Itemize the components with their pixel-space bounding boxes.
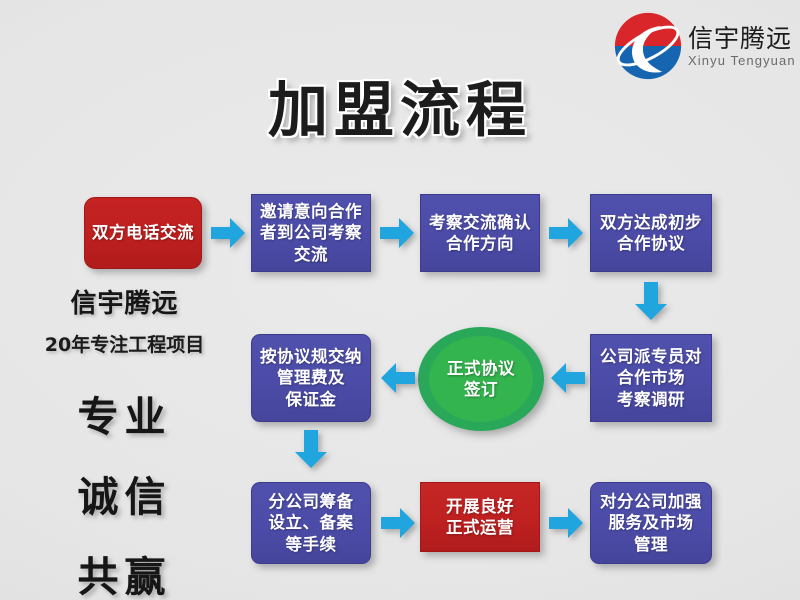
arrow-8-9-icon	[547, 506, 585, 540]
slogan-brand: 信宇腾远	[22, 283, 227, 320]
flow-node-step-1[interactable]: 双方电话交流	[84, 197, 202, 269]
flow-node-step-7[interactable]: 分公司筹备设立、备案等手续	[251, 482, 371, 564]
arrow-sign-6-icon	[379, 361, 417, 395]
arrow-1-2-icon	[209, 216, 247, 250]
slogan-word-3: 共赢	[22, 543, 227, 600]
arrow-3-4-icon	[547, 216, 585, 250]
slogan-subtitle: 20年专注工程项目	[22, 330, 227, 357]
arrow-6-7-icon	[292, 428, 330, 470]
slogan-word-2: 诚信	[22, 463, 227, 523]
flow-node-step-8[interactable]: 开展良好正式运营	[420, 482, 540, 552]
flow-node-step-sign-label: 正式协议签订	[429, 336, 533, 422]
flow-node-step-5[interactable]: 公司派专员对合作市场考察调研	[590, 334, 712, 422]
flow-node-step-3[interactable]: 考察交流确认合作方向	[420, 194, 540, 272]
arrow-5-sign-icon	[549, 361, 587, 395]
brand-logo-name-cn: 信宇腾远	[688, 26, 796, 51]
flow-node-step-sign[interactable]: 正式协议签订	[418, 327, 544, 431]
flow-node-step-2[interactable]: 邀请意向合作者到公司考察交流	[251, 194, 371, 272]
slogan-word-1: 专业	[22, 383, 227, 443]
slide-canvas: 信宇腾远 Xinyu Tengyuan 加盟流程 信宇腾远 20年专注工程项目 …	[0, 0, 800, 600]
arrow-7-8-icon	[379, 506, 417, 540]
flow-node-step-4[interactable]: 双方达成初步合作协议	[590, 194, 712, 272]
flow-node-step-6[interactable]: 按协议规交纳管理费及保证金	[251, 334, 371, 422]
page-title: 加盟流程	[0, 62, 800, 149]
slogan-column: 信宇腾远 20年专注工程项目 专业 诚信 共赢	[22, 283, 227, 600]
arrow-4-5-icon	[632, 280, 670, 322]
brand-logo-text: 信宇腾远 Xinyu Tengyuan	[688, 26, 796, 67]
flow-node-step-9[interactable]: 对分公司加强服务及市场管理	[590, 482, 712, 564]
arrow-2-3-icon	[378, 216, 416, 250]
